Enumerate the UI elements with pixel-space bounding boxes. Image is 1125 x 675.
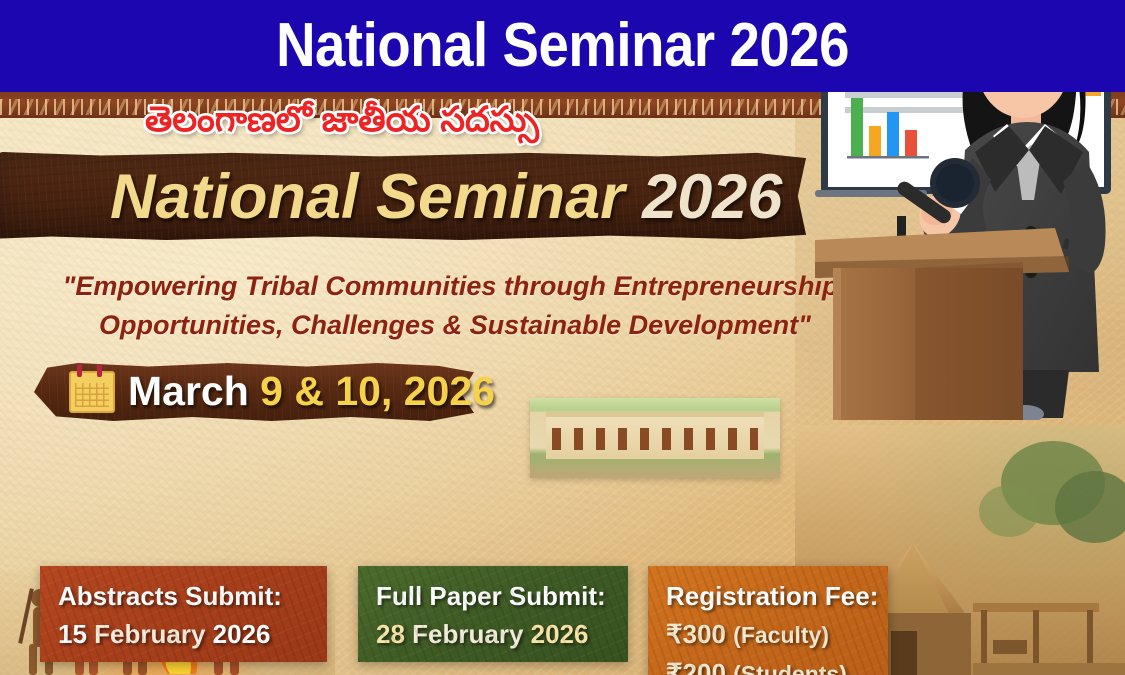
card-registration-fee[interactable]: Registration Fee: ₹300 (Faculty) ₹200 (S…: [648, 566, 888, 675]
telugu-headline: తెలంగాణలో జాతీయ సదస్సు: [145, 100, 539, 148]
fee-faculty-label: (Faculty): [733, 622, 829, 648]
card-fullpaper-day: 28: [376, 619, 412, 649]
fee-faculty-amount: ₹300: [666, 619, 733, 649]
title-year-text: 2026: [642, 162, 782, 232]
seminar-date: March 9 & 10, 2026: [128, 367, 495, 416]
date-month: March: [128, 368, 260, 414]
institutional-building-photo: [530, 398, 780, 478]
card-abstracts-year: 2026: [213, 619, 271, 649]
top-banner: National Seminar 2026: [0, 0, 1125, 92]
card-abstracts-title: Abstracts Submit:: [58, 580, 309, 613]
card-fullpaper-submit[interactable]: Full Paper Submit: 28 February 2026: [358, 566, 628, 662]
card-abstracts-day: 15: [58, 619, 94, 649]
quote-line-1: "Empowering Tribal Communities through E…: [60, 267, 850, 306]
card-fee-student: ₹200 (Students): [666, 656, 870, 675]
fee-student-amount: ₹200: [666, 658, 733, 675]
fee-student-label: (Students): [733, 661, 847, 675]
card-fullpaper-year: 2026: [531, 619, 589, 649]
card-fullpaper-month: February: [412, 619, 531, 649]
card-fee-title: Registration Fee:: [666, 580, 870, 613]
card-abstracts-month: February: [94, 619, 213, 649]
seminar-theme-quote: "Empowering Tribal Communities through E…: [60, 267, 850, 345]
card-fullpaper-value: 28 February 2026: [376, 617, 610, 652]
card-fee-faculty: ₹300 (Faculty): [666, 617, 870, 652]
card-abstracts-value: 15 February 2026: [58, 617, 309, 652]
banner-title: National Seminar 2026: [276, 15, 849, 77]
quote-line-2: Opportunities, Challenges & Sustainable …: [60, 306, 850, 345]
card-abstracts-submit[interactable]: Abstracts Submit: 15 February 2026: [40, 566, 327, 662]
card-fullpaper-title: Full Paper Submit:: [376, 580, 610, 613]
poster-stage: National Seminar 2026: [0, 0, 1125, 675]
date-days: 9 & 10, 2026: [260, 368, 495, 414]
title-main-text: National Seminar: [110, 162, 642, 232]
calendar-icon: [69, 371, 115, 413]
page-title: National Seminar 2026: [110, 164, 782, 230]
